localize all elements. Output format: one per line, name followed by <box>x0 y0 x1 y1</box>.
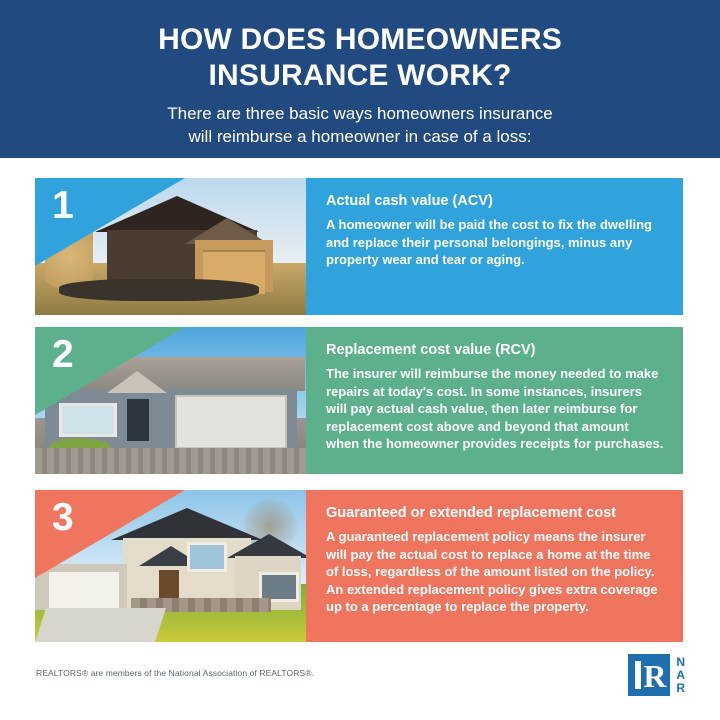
card-3-body: Guaranteed or extended replacement cost … <box>306 490 683 642</box>
logo-line-a: A <box>676 669 686 682</box>
page-subtitle: There are three basic ways homeowners in… <box>80 102 640 148</box>
driveway <box>35 608 166 642</box>
garage-door <box>175 395 287 449</box>
card-1-number: 1 <box>52 184 74 228</box>
card-3-number: 3 <box>52 496 74 540</box>
card-1-text: A homeowner will be paid the cost to fix… <box>326 216 665 269</box>
nar-logo-letters: N A R <box>676 656 686 695</box>
card-1-title: Actual cash value (ACV) <box>326 192 665 210</box>
page-title: HOW DOES HOMEOWNERS INSURANCE WORK? <box>40 22 680 94</box>
page-title-line-1: HOW DOES HOMEOWNERS <box>40 22 680 58</box>
card-2-title: Replacement cost value (RCV) <box>326 341 665 359</box>
page-subtitle-line-2: will reimburse a homeowner in case of a … <box>80 125 640 148</box>
card-guaranteed-replacement-cost: 3 Guaranteed or extended replacement cos… <box>35 490 683 642</box>
card-replacement-cost-value: 2 Replacement cost value (RCV) The insur… <box>35 327 683 474</box>
card-actual-cash-value: 1 Actual cash value (ACV) A homeowner wi… <box>35 178 683 315</box>
logo-line-n: N <box>676 656 686 669</box>
card-2-body: Replacement cost value (RCV) The insurer… <box>306 327 683 474</box>
card-2-text: The insurer will reimburse the money nee… <box>326 365 665 453</box>
page-subtitle-line-1: There are three basic ways homeowners in… <box>80 102 640 125</box>
card-1-image: 1 <box>35 178 306 315</box>
footer: REALTORS® are members of the National As… <box>0 644 720 720</box>
page-title-line-2: INSURANCE WORK? <box>40 58 680 94</box>
infographic-page: HOW DOES HOMEOWNERS INSURANCE WORK? Ther… <box>0 0 720 720</box>
nar-logo: R N A R <box>628 654 686 696</box>
card-3-title: Guaranteed or extended replacement cost <box>326 504 665 522</box>
wing-roof <box>227 534 306 558</box>
card-3-number-corner: 3 <box>35 490 185 582</box>
card-1-number-corner: 1 <box>35 178 185 270</box>
logo-bar <box>635 661 641 689</box>
card-3-image: 3 <box>35 490 306 642</box>
debris <box>59 279 259 301</box>
upper-window <box>187 542 227 572</box>
card-2-number: 2 <box>52 333 74 377</box>
footer-disclaimer: REALTORS® are members of the National As… <box>36 668 314 678</box>
driveway <box>35 448 306 474</box>
nar-logo-mark-icon: R <box>628 654 670 696</box>
logo-line-r: R <box>676 682 686 695</box>
card-3-text: A guaranteed replacement policy means th… <box>326 528 665 616</box>
card-2-image: 2 <box>35 327 306 474</box>
logo-letter-r: R <box>643 657 666 695</box>
header-banner: HOW DOES HOMEOWNERS INSURANCE WORK? Ther… <box>0 0 720 158</box>
card-1-body: Actual cash value (ACV) A homeowner will… <box>306 178 683 315</box>
card-2-number-corner: 2 <box>35 327 185 419</box>
